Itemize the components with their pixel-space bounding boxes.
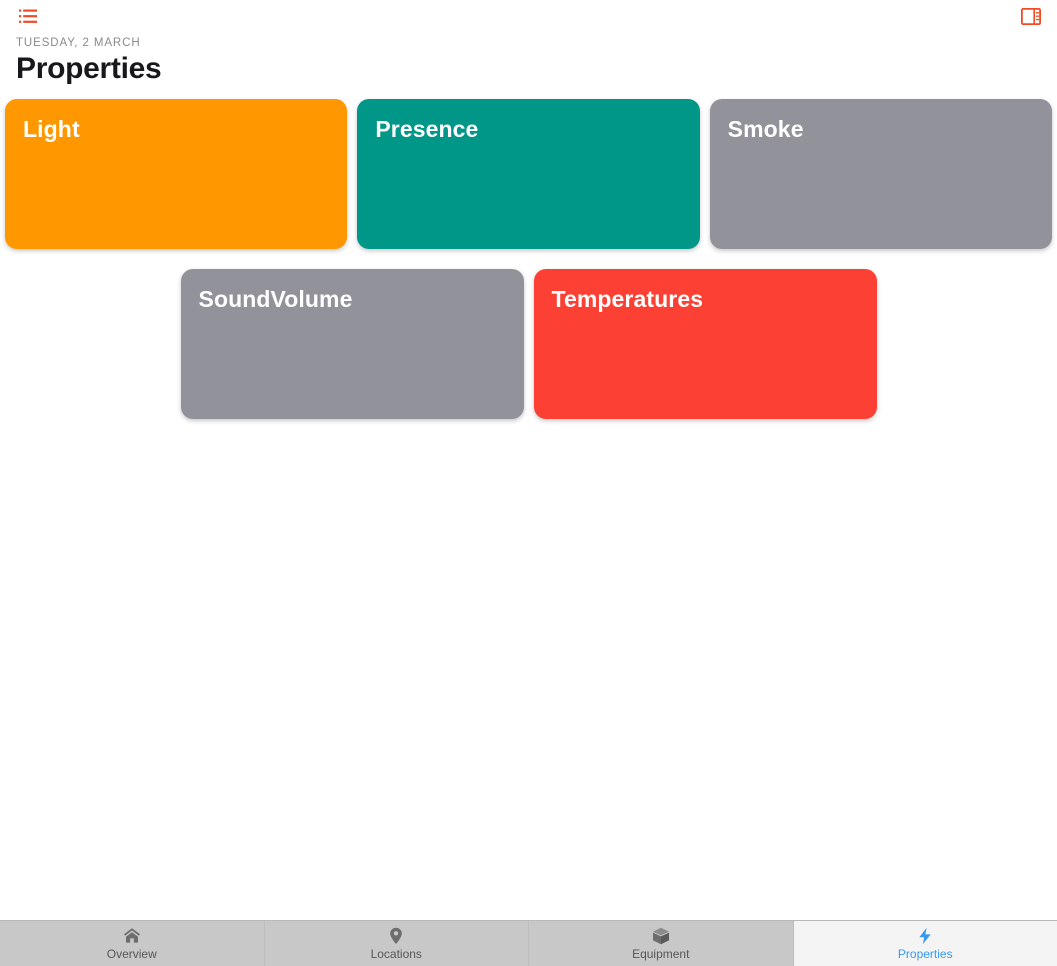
page-title: Properties (16, 51, 1041, 87)
sidebar-panel-toggle-button[interactable] (1019, 6, 1043, 30)
tab-properties[interactable]: Properties (794, 921, 1057, 966)
tab-locations[interactable]: Locations (265, 921, 530, 966)
list-menu-button[interactable] (16, 6, 40, 30)
property-card-soundvolume[interactable]: SoundVolume (181, 269, 524, 419)
tab-equipment[interactable]: Equipment (529, 921, 794, 966)
card-row: SoundVolume Temperatures (0, 269, 1057, 419)
tab-label: Locations (371, 947, 422, 961)
page-header: TUESDAY, 2 MARCH Properties (0, 36, 1057, 87)
app-root: TUESDAY, 2 MARCH Properties Light Presen… (0, 0, 1057, 966)
header-date: TUESDAY, 2 MARCH (16, 36, 1041, 50)
list-icon (19, 9, 37, 27)
property-grid: Light Presence Smoke SoundVolume Tempera… (0, 87, 1057, 920)
tab-overview[interactable]: Overview (0, 921, 265, 966)
property-card-title: Smoke (728, 115, 1034, 143)
tab-label: Overview (107, 947, 157, 961)
property-card-smoke[interactable]: Smoke (710, 99, 1052, 249)
property-card-title: SoundVolume (199, 285, 506, 313)
tab-label: Equipment (632, 947, 689, 961)
sidebar-panel-icon (1021, 8, 1041, 28)
map-pin-icon (387, 927, 405, 945)
property-card-title: Presence (375, 115, 681, 143)
property-card-light[interactable]: Light (5, 99, 347, 249)
card-row: Light Presence Smoke (0, 99, 1057, 249)
property-card-title: Light (23, 115, 329, 143)
cube-icon (652, 927, 670, 945)
bolt-icon (916, 927, 934, 945)
property-card-presence[interactable]: Presence (357, 99, 699, 249)
top-bar (0, 0, 1057, 36)
property-card-title: Temperatures (552, 285, 859, 313)
bottom-tab-bar: Overview Locations Equipment (0, 920, 1057, 966)
property-card-temperatures[interactable]: Temperatures (534, 269, 877, 419)
tab-label: Properties (898, 947, 953, 961)
home-icon (123, 927, 141, 945)
